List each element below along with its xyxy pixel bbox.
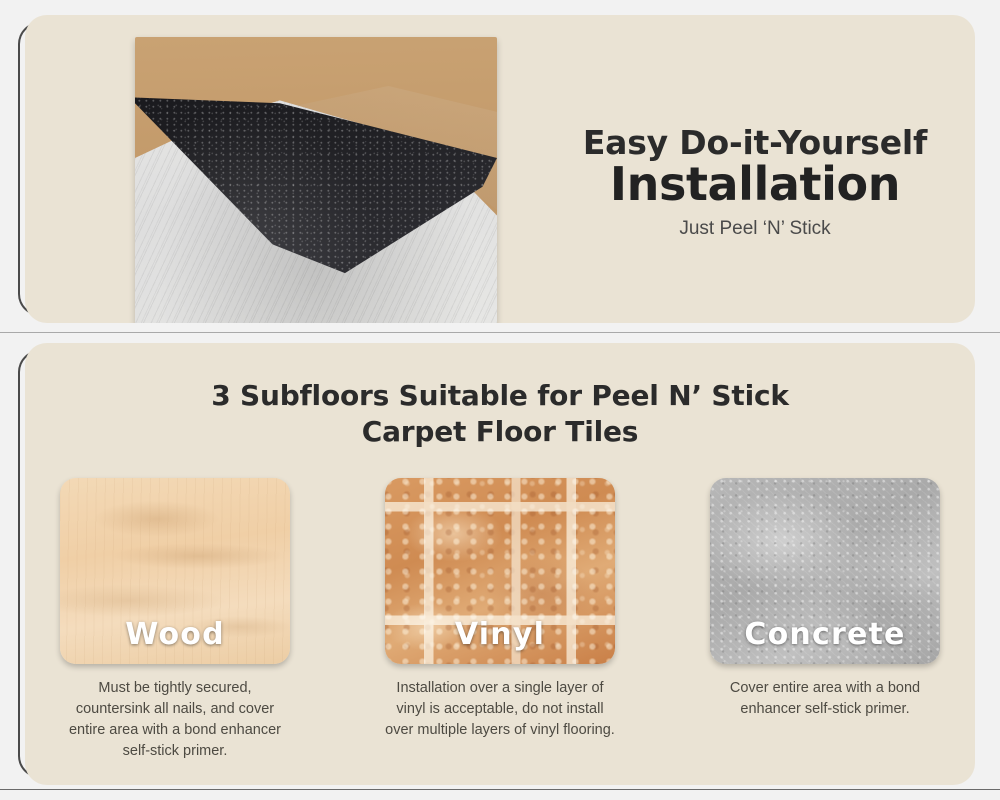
subfloor-tile-wood: Wood Must be tightly secured, countersin… [60,478,290,762]
vinyl-caption: Installation over a single layer of viny… [385,678,615,741]
subfloor-tile-concrete: Concrete Cover entire area with a bond e… [710,478,940,762]
vinyl-label: Vinyl [385,617,615,652]
wood-label: Wood [60,617,290,652]
vinyl-swatch: Vinyl [385,478,615,664]
page-root: Easy Do-it-Yourself Installation Just Pe… [0,0,1000,800]
subfloors-heading-line1: 3 Subfloors Suitable for Peel N’ Stick [211,379,789,412]
wood-caption: Must be tightly secured, countersink all… [60,678,290,762]
installation-card: Easy Do-it-Yourself Installation Just Pe… [25,15,975,323]
install-headline-line2: Installation [525,160,975,210]
install-subtitle: Just Peel ‘N’ Stick [525,218,975,240]
subfloor-tile-vinyl: Vinyl Installation over a single layer o… [385,478,615,762]
wood-swatch: Wood [60,478,290,664]
concrete-caption: Cover entire area with a bond enhancer s… [710,678,940,720]
peel-n-stick-photo [135,37,497,323]
concrete-swatch: Concrete [710,478,940,664]
card-divider-line [0,332,1000,333]
subfloors-heading: 3 Subfloors Suitable for Peel N’ Stick C… [60,378,940,450]
installation-copy-block: Easy Do-it-Yourself Installation Just Pe… [525,125,975,240]
subfloor-tiles-row: Wood Must be tightly secured, countersin… [60,478,940,762]
concrete-label: Concrete [710,617,940,652]
page-bottom-rule [0,789,1000,790]
subfloors-heading-line2: Carpet Floor Tiles [362,415,639,448]
